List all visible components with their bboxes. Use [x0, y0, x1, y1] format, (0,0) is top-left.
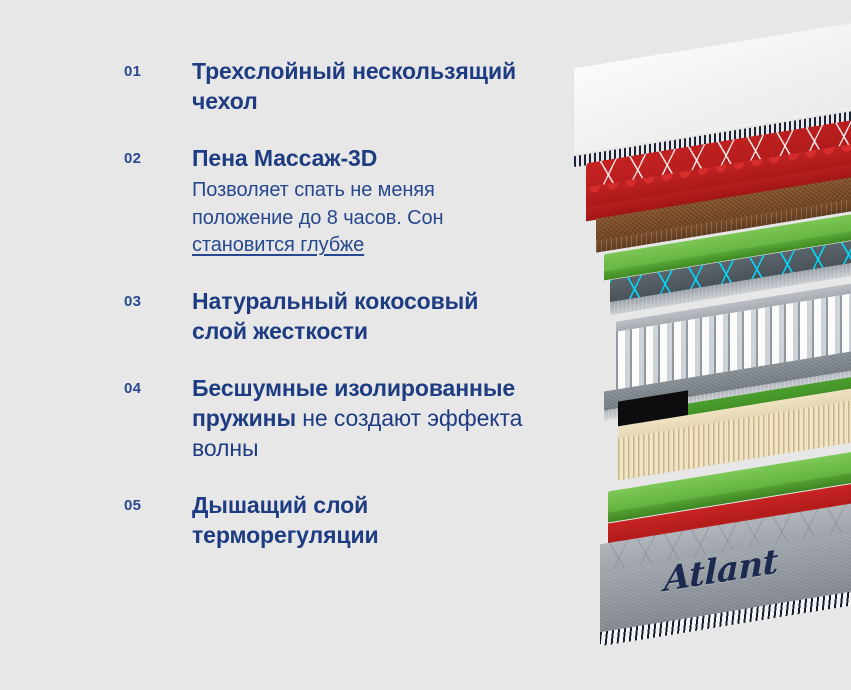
- product-feature-panel: 01 Трехслойный нескользящий чехол 02 Пен…: [0, 0, 851, 690]
- feature-title-02: Пена Массаж-3D: [192, 143, 534, 173]
- feature-index-01: 01: [124, 56, 192, 82]
- feature-body-04: Бесшумные изолированные пружины не созда…: [192, 373, 534, 464]
- feature-body-05: Дышащий слой терморегуляции: [192, 490, 534, 551]
- feature-title-05: Дышащий слой терморегуляции: [192, 490, 534, 551]
- feature-item-05: 05 Дышащий слой терморегуляции: [124, 490, 534, 551]
- feature-body-01: Трехслойный нескользящий чехол: [192, 56, 534, 117]
- feature-index-04: 04: [124, 373, 192, 399]
- feature-description-text-02: Позволяет спать не меняя положение до 8 …: [192, 179, 443, 229]
- exploded-mattress-illustration: Atlant: [556, 0, 851, 690]
- feature-item-04: 04 Бесшумные изолированные пружины не со…: [124, 373, 534, 464]
- feature-item-03: 03 Натуральный кокосовый слой жесткости: [124, 286, 534, 347]
- feature-index-03: 03: [124, 286, 192, 312]
- feature-list: 01 Трехслойный нескользящий чехол 02 Пен…: [124, 56, 534, 550]
- feature-title-text-01: Трехслойный нескользящий чехол: [192, 58, 516, 114]
- feature-link-02[interactable]: становится глубже: [192, 234, 364, 256]
- feature-title-text-03: Натуральный кокосовый слой жесткости: [192, 288, 478, 344]
- feature-item-02: 02 Пена Массаж-3D Позволяет спать не мен…: [124, 143, 534, 260]
- feature-title-text-05: Дышащий слой терморегуляции: [192, 492, 379, 548]
- feature-item-01: 01 Трехслойный нескользящий чехол: [124, 56, 534, 117]
- layer-mattress-base: [600, 520, 851, 650]
- feature-title-01: Трехслойный нескользящий чехол: [192, 56, 534, 117]
- feature-body-03: Натуральный кокосовый слой жесткости: [192, 286, 534, 347]
- feature-index-05: 05: [124, 490, 192, 516]
- feature-index-02: 02: [124, 143, 192, 169]
- feature-title-03: Натуральный кокосовый слой жесткости: [192, 286, 534, 347]
- feature-description-02: Позволяет спать не меняя положение до 8 …: [192, 177, 534, 260]
- feature-title-text-02: Пена Массаж-3D: [192, 145, 377, 171]
- feature-body-02: Пена Массаж-3D Позволяет спать не меняя …: [192, 143, 534, 260]
- feature-title-04: Бесшумные изолированные пружины не созда…: [192, 373, 534, 464]
